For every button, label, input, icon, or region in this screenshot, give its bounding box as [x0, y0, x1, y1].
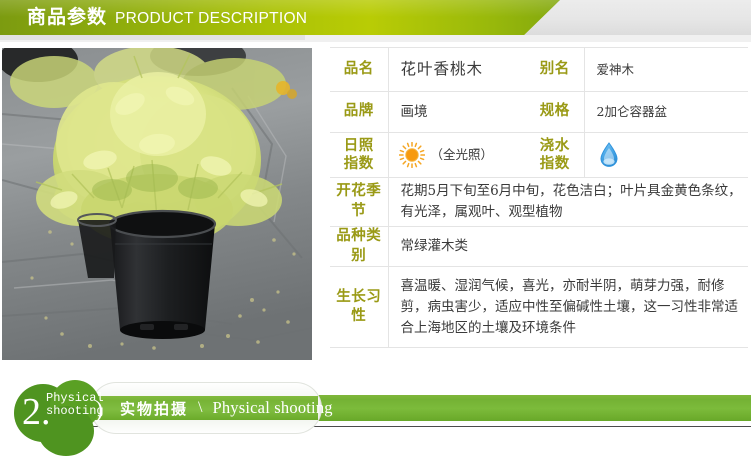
table-row: 日照 指数: [330, 133, 748, 178]
spec-value-spec: 2加仑容器盆: [584, 92, 748, 133]
spec-label-watering-line1: 浇水: [540, 137, 570, 155]
spec-value-name: 花叶香桃木: [388, 48, 526, 92]
footer-section-label: 实物拍摄 \ Physical shooting: [120, 396, 333, 420]
spec-label-sunlight-line2: 指数: [344, 155, 374, 173]
spec-label-alias: 别名: [526, 48, 584, 92]
sun-icon: [399, 142, 425, 168]
spec-value-growth-habit: 喜温暖、湿润气候，喜光，亦耐半阴，萌芽力强，耐修剪，病虫害少，适应中性至偏碱性土…: [388, 267, 748, 348]
page-title-cn: 商品参数: [27, 8, 107, 27]
table-row: 品种类别 常绿灌木类: [330, 227, 748, 267]
spec-label-variety-type: 品种类别: [330, 227, 388, 267]
page-title-en: PRODUCT DESCRIPTION: [115, 11, 307, 27]
header-underline-accent: [0, 35, 305, 40]
spec-value-variety-type: 常绿灌木类: [388, 227, 748, 267]
spec-label-brand: 品牌: [330, 92, 388, 133]
table-row: 品牌 画境 规格 2加仑容器盆: [330, 92, 748, 133]
header-title: 商品参数 PRODUCT DESCRIPTION: [27, 0, 307, 35]
spec-value-alias: 爱神木: [584, 48, 748, 92]
footer-label-en: Physical shooting: [212, 398, 332, 418]
spec-label-watering: 浇水 指数: [526, 133, 584, 178]
spec-label-sunlight-line1: 日照: [344, 137, 374, 155]
table-row: 生长习性 喜温暖、湿润气候，喜光，亦耐半阴，萌芽力强，耐修剪，病虫害少，适应中性…: [330, 267, 748, 348]
page-header: 商品参数 PRODUCT DESCRIPTION: [0, 0, 751, 35]
footer-label-separator: \: [198, 399, 202, 417]
plant-photo-illustration: [2, 48, 312, 360]
product-photo: [2, 48, 312, 360]
spec-label-spec: 规格: [526, 92, 584, 133]
table-row: 开花季节 花期5月下旬至6月中旬，花色洁白；叶片具金黄色条纹，有光泽，属观叶、观…: [330, 178, 748, 227]
spec-label-sunlight: 日照 指数: [330, 133, 388, 178]
badge-paren-glyph: ): [95, 398, 103, 422]
spec-value-watering: [584, 133, 748, 178]
spec-label-flowering-season: 开花季节: [330, 178, 388, 227]
spec-label-name: 品名: [330, 48, 388, 92]
section-number-badge: 2. Physicalshooting ): [10, 380, 115, 456]
footer-label-cn: 实物拍摄: [120, 398, 188, 419]
spec-value-sunlight: （全光照）: [388, 133, 526, 178]
water-drop-icon: [599, 142, 619, 168]
spec-value-brand: 画境: [388, 92, 526, 133]
table-row: 品名 花叶香桃木 别名 爱神木: [330, 48, 748, 92]
spec-label-growth-habit: 生长习性: [330, 267, 388, 348]
product-spec-table: 品名 花叶香桃木 别名 爱神木 品牌 画境 规格 2加仑容器盆 日照 指数: [330, 47, 748, 348]
spec-value-flowering-season: 花期5月下旬至6月中旬，花色洁白；叶片具金黄色条纹，有光泽，属观叶、观型植物: [388, 178, 748, 227]
spec-value-sunlight-note: （全光照）: [431, 145, 494, 164]
spec-label-watering-line2: 指数: [540, 155, 570, 173]
